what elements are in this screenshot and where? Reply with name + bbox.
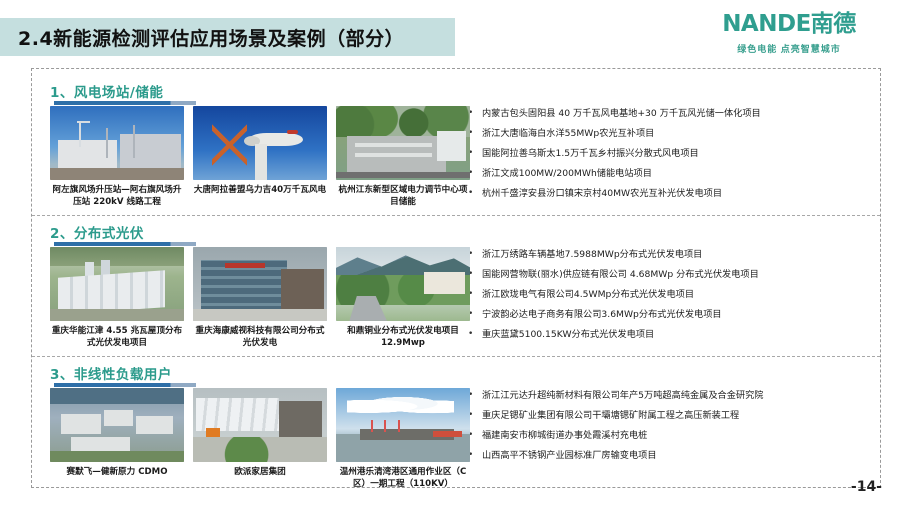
bullet-item: •福建南安市柳城街道办事处霞溪村充电桩 [468, 430, 866, 442]
photo-caption: 杭州江东新型区域电力调节中心项目储能 [336, 184, 470, 209]
photo-gallery-1: 阿左旗风场升压站—阿右旗风场升压站 220kV 线路工程 大唐阿拉善盟乌力吉40… [32, 106, 462, 209]
project-photo[interactable] [336, 247, 470, 321]
bullet-item: •重庆蓝黛5100.15KW分布式光伏发电项目 [468, 329, 866, 341]
project-photo[interactable] [50, 388, 184, 462]
project-photo[interactable] [50, 106, 184, 180]
photo-caption: 重庆华能江津 4.55 兆瓦屋顶分布式光伏发电项目 [50, 325, 184, 350]
photo-caption: 阿左旗风场升压站—阿右旗风场升压站 220kV 线路工程 [50, 184, 184, 209]
bullet-dot-icon: • [468, 289, 482, 301]
project-photo[interactable] [193, 388, 327, 462]
bullet-item: •重庆足锶矿业集团有限公司干壩塘锶矿附属工程之高压新装工程 [468, 410, 866, 422]
bullet-item: •浙江文成100MW/200MWh储能电站项目 [468, 168, 866, 180]
bullet-item: •浙江大唐临海白水洋55MWp农光互补项目 [468, 128, 866, 140]
photo-card[interactable]: 杭州江东新型区域电力调节中心项目储能 [336, 106, 470, 209]
bullet-dot-icon: • [468, 410, 482, 422]
page-number: -14- [851, 479, 882, 495]
bullet-dot-icon: • [468, 148, 482, 160]
photo-card[interactable]: 重庆华能江津 4.55 兆瓦屋顶分布式光伏发电项目 [50, 247, 184, 350]
bullet-dot-icon: • [468, 390, 482, 402]
page-title: 2.4新能源检测评估应用场景及案例（部分） [0, 24, 404, 51]
bullet-item: •内蒙古包头固阳县 40 万千瓦风电基地+30 万千瓦风光储一体化项目 [468, 108, 866, 120]
section-distributed-pv: 2、分布式光伏 重庆华能江津 4.55 兆瓦屋顶分布式光伏发电项目 重庆海康威视 [32, 215, 880, 356]
bullet-item: •山西高平不锈钢产业园标准厂房输变电项目 [468, 450, 866, 462]
photo-card[interactable]: 欧派家居集团 [193, 388, 327, 491]
section-heading-underline [54, 101, 196, 105]
section-heading-3: 3、非线性负载用户 [50, 363, 172, 384]
bullet-dot-icon: • [468, 128, 482, 140]
project-photo[interactable] [336, 388, 470, 462]
section-heading-1-label: 1、风电场站/储能 [50, 85, 163, 101]
section-wind-storage: 1、风电场站/储能 阿左旗风场升压站—阿右旗风场升压站 220kV 线路工程 [32, 75, 880, 215]
photo-gallery-2: 重庆华能江津 4.55 兆瓦屋顶分布式光伏发电项目 重庆海康威视科技有限公司分布… [32, 247, 462, 350]
photo-card[interactable]: 阿左旗风场升压站—阿右旗风场升压站 220kV 线路工程 [50, 106, 184, 209]
bullet-dot-icon: • [468, 108, 482, 120]
bullet-dot-icon: • [468, 309, 482, 321]
photo-card[interactable]: 温州港乐清湾港区通用作业区（C 区）一期工程（110KV） [336, 388, 470, 491]
photo-caption: 欧派家居集团 [193, 466, 327, 478]
content-frame: 1、风电场站/储能 阿左旗风场升压站—阿右旗风场升压站 220kV 线路工程 [31, 68, 881, 488]
bullet-dot-icon: • [468, 188, 482, 200]
photo-caption: 重庆海康威视科技有限公司分布式光伏发电 [193, 325, 327, 350]
bullet-dot-icon: • [468, 269, 482, 281]
section-heading-1: 1、风电场站/储能 [50, 81, 163, 102]
logo-tagline: 绿色电能 点亮智慧城市 [694, 42, 884, 55]
photo-caption: 温州港乐清湾港区通用作业区（C 区）一期工程（110KV） [336, 466, 470, 491]
project-photo[interactable] [193, 247, 327, 321]
photo-gallery-3: 赛默飞—健新原力 CDMO 欧派家居集团 温州港乐清湾港区通用作业区（ [32, 388, 462, 491]
bullet-dot-icon: • [468, 450, 482, 462]
bullet-item: •浙江江元达升超纯新材料有限公司年产5万吨超高纯金属及合金研究院 [468, 390, 866, 402]
slide-title-band: 2.4新能源检测评估应用场景及案例（部分） [0, 18, 455, 56]
bullet-item: •国能阿拉善乌斯太1.5万千瓦乡村振兴分散式风电项目 [468, 148, 866, 160]
bullet-list-1: •内蒙古包头固阳县 40 万千瓦风电基地+30 万千瓦风光储一体化项目 •浙江大… [462, 106, 880, 209]
bullet-dot-icon: • [468, 430, 482, 442]
photo-card[interactable]: 和鼎铜业分布式光伏发电项目12.9Mwp [336, 247, 470, 350]
bullet-item: •浙江欧珑电气有限公司4.5WMp分布式光伏发电项目 [468, 289, 866, 301]
section-body-3: 赛默飞—健新原力 CDMO 欧派家居集团 温州港乐清湾港区通用作业区（ [32, 388, 880, 491]
section-nonlinear-load: 3、非线性负载用户 赛默飞—健新原力 CDMO 欧派家 [32, 356, 880, 497]
bullet-list-3: •浙江江元达升超纯新材料有限公司年产5万吨超高纯金属及合金研究院 •重庆足锶矿业… [462, 388, 880, 491]
bullet-dot-icon: • [468, 329, 482, 341]
project-photo[interactable] [336, 106, 470, 180]
bullet-list-2: •浙江万绣路车辆基地7.5988MWp分布式光伏发电项目 •国能网营物联(丽水)… [462, 247, 880, 350]
photo-card[interactable]: 重庆海康威视科技有限公司分布式光伏发电 [193, 247, 327, 350]
section-heading-underline [54, 383, 196, 387]
section-body-2: 重庆华能江津 4.55 兆瓦屋顶分布式光伏发电项目 重庆海康威视科技有限公司分布… [32, 247, 880, 350]
bullet-dot-icon: • [468, 249, 482, 261]
project-photo[interactable] [50, 247, 184, 321]
photo-caption: 和鼎铜业分布式光伏发电项目12.9Mwp [336, 325, 470, 350]
bullet-item: •浙江万绣路车辆基地7.5988MWp分布式光伏发电项目 [468, 249, 866, 261]
section-body-1: 阿左旗风场升压站—阿右旗风场升压站 220kV 线路工程 大唐阿拉善盟乌力吉40… [32, 106, 880, 209]
logo-wordmark: NANDE南德 [694, 12, 884, 37]
project-photo[interactable] [193, 106, 327, 180]
section-heading-underline [54, 242, 196, 246]
section-heading-2: 2、分布式光伏 [50, 222, 144, 243]
photo-card[interactable]: 赛默飞—健新原力 CDMO [50, 388, 184, 491]
bullet-item: •宁波韵必达电子商务有限公司3.6MWp分布式光伏发电项目 [468, 309, 866, 321]
photo-caption: 大唐阿拉善盟乌力吉40万千瓦风电 [193, 184, 327, 196]
company-logo: NANDE南德 绿色电能 点亮智慧城市 [694, 12, 884, 55]
slide-header: 2.4新能源检测评估应用场景及案例（部分） NANDE南德 绿色电能 点亮智慧城… [0, 0, 906, 66]
bullet-item: •国能网营物联(丽水)供应链有限公司 4.68MWp 分布式光伏发电项目 [468, 269, 866, 281]
photo-caption: 赛默飞—健新原力 CDMO [50, 466, 184, 478]
section-heading-3-label: 3、非线性负载用户 [50, 367, 172, 383]
bullet-dot-icon: • [468, 168, 482, 180]
photo-card[interactable]: 大唐阿拉善盟乌力吉40万千瓦风电 [193, 106, 327, 209]
section-heading-2-label: 2、分布式光伏 [50, 226, 144, 242]
bullet-item: •杭州千盛淳安县汾口镇宋京村40MW农光互补光伏发电项目 [468, 188, 866, 200]
